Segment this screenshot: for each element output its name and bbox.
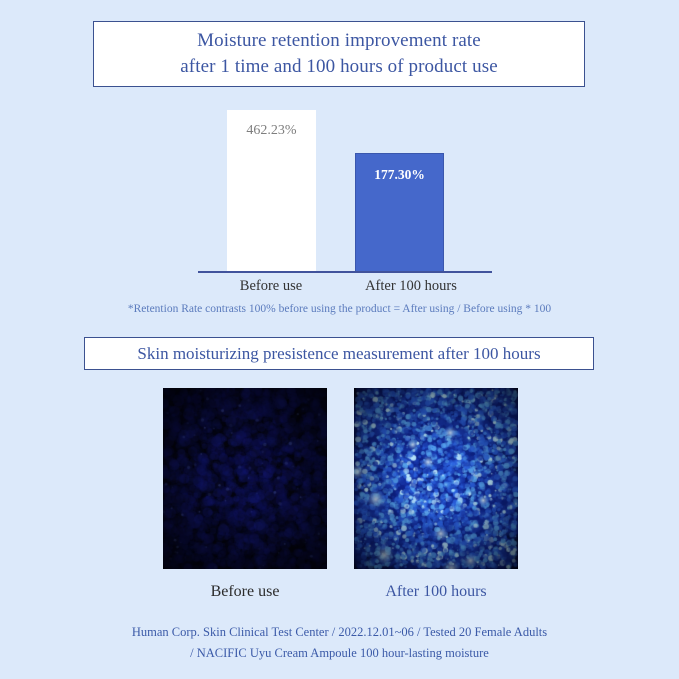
subtitle-box: Skin moisturizing presistence measuremen… [84, 337, 594, 370]
photo-before-canvas [163, 388, 327, 569]
study-credit: Human Corp. Skin Clinical Test Center / … [0, 622, 679, 664]
subtitle-text: Skin moisturizing presistence measuremen… [137, 344, 540, 364]
study-credit-line-2: / NACIFIC Uyu Cream Ampoule 100 hour-las… [0, 643, 679, 664]
chart-footnote: *Retention Rate contrasts 100% before us… [0, 303, 679, 315]
chart-axis-line [198, 271, 492, 273]
photo-before-use [163, 388, 327, 569]
photo-after-100-hours [354, 388, 518, 569]
bar-after-100-hours: 177.30% [355, 153, 444, 272]
main-title-box: Moisture retention improvement rate afte… [93, 21, 585, 87]
main-title-line-2: after 1 time and 100 hours of product us… [180, 54, 498, 80]
axis-label-before-use: Before use [205, 278, 337, 295]
axis-label-after-100-hours: After 100 hours [338, 278, 484, 295]
photo-caption-after-100-hours: After 100 hours [354, 583, 518, 601]
bar-value-before-use: 462.23% [227, 123, 316, 139]
bar-before-use: 462.23% [227, 110, 316, 272]
photo-after-canvas [354, 388, 518, 569]
bar-value-after-100-hours: 177.30% [356, 167, 443, 183]
photo-caption-before-use: Before use [163, 583, 327, 601]
infographic-page: Moisture retention improvement rate afte… [0, 0, 679, 679]
main-title-line-1: Moisture retention improvement rate [197, 28, 481, 54]
bar-chart: 462.23% 177.30% Before use After 100 hou… [190, 105, 500, 300]
study-credit-line-1: Human Corp. Skin Clinical Test Center / … [0, 622, 679, 643]
